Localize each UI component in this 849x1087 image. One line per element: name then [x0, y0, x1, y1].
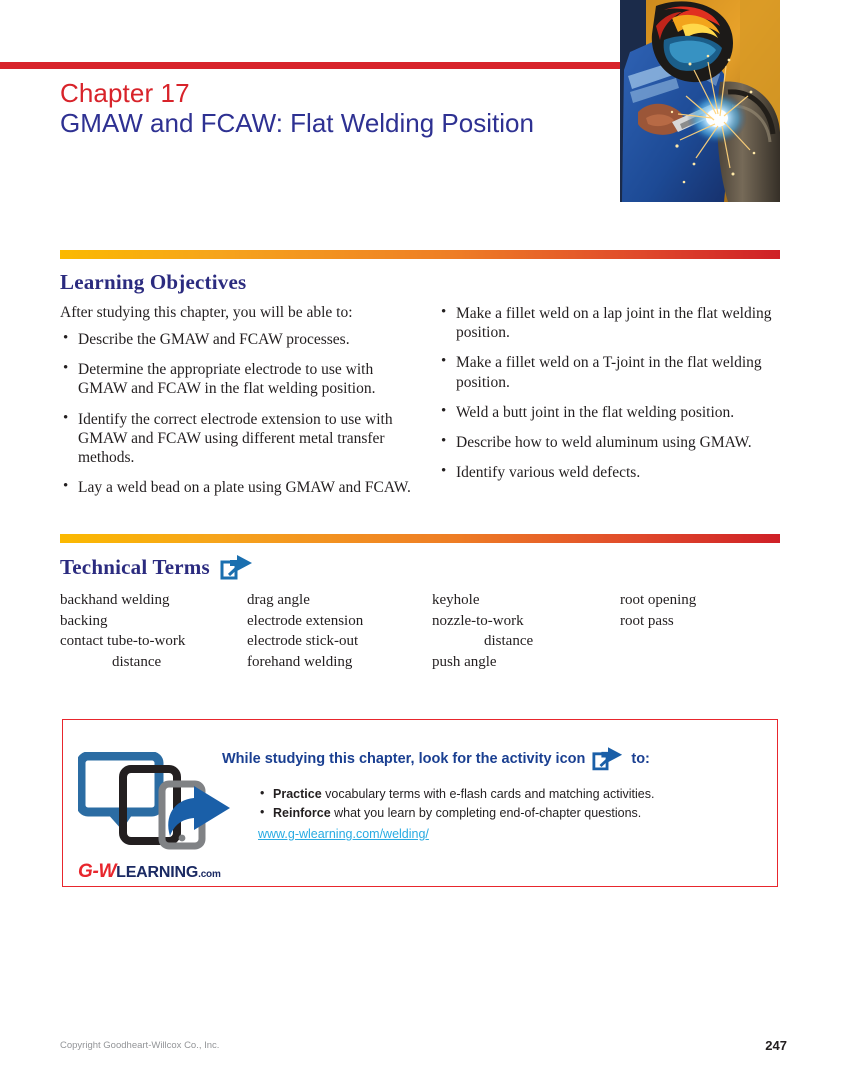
- page-number: 247: [765, 1038, 787, 1053]
- list-item: Make a fillet weld on a lap joint in the…: [438, 304, 783, 342]
- technical-terms-column: root opening root pass: [620, 590, 784, 673]
- technical-term: electrode stick-out: [247, 631, 432, 652]
- technical-term: backing: [60, 611, 247, 632]
- technical-term: drag angle: [247, 590, 432, 611]
- technical-terms-column: drag angle electrode extension electrode…: [247, 590, 432, 673]
- activity-url-link[interactable]: www.g-wlearning.com/welding/: [258, 825, 728, 844]
- activity-arrow-icon[interactable]: [592, 746, 624, 771]
- technical-term: forehand welding: [247, 652, 432, 673]
- list-item: Determine the appropriate electrode to u…: [60, 360, 412, 398]
- technical-terms-heading: Technical Terms: [60, 555, 210, 580]
- activity-headline: While studying this chapter, look for th…: [222, 746, 650, 771]
- activity-item-text: what you learn by completing end-of-chap…: [331, 806, 642, 820]
- objectives-gradient-rule: [60, 250, 780, 259]
- technical-terms-column: backhand welding backing contact tube-to…: [60, 590, 247, 673]
- technical-terms-column: keyhole nozzle-to-workdistance push angl…: [432, 590, 620, 673]
- activity-headline-before: While studying this chapter, look for th…: [222, 751, 585, 767]
- technical-term: keyhole: [432, 590, 620, 611]
- technical-term: electrode extension: [247, 611, 432, 632]
- technical-terms-grid: backhand welding backing contact tube-to…: [60, 590, 784, 673]
- list-item: Practice vocabulary terms with e-flash c…: [258, 785, 728, 804]
- header-red-rule: [0, 62, 620, 69]
- activity-item-label: Reinforce: [273, 806, 331, 820]
- activity-list: Practice vocabulary terms with e-flash c…: [258, 785, 728, 844]
- learning-objectives-right-column: Make a fillet weld on a lap joint in the…: [438, 304, 783, 494]
- learning-objectives-intro: After studying this chapter, you will be…: [60, 304, 353, 322]
- activity-headline-after: to:: [631, 751, 650, 767]
- activity-item-text: vocabulary terms with e-flash cards and …: [322, 787, 655, 801]
- list-item: Lay a weld bead on a plate using GMAW an…: [60, 478, 412, 497]
- learning-objectives-heading: Learning Objectives: [60, 270, 246, 295]
- gw-logo-text: G-W: [78, 861, 116, 882]
- chapter-number: Chapter 17: [60, 78, 560, 108]
- gw-learning-wordmark: G-WLEARNING.com: [78, 862, 221, 881]
- technical-term: push angle: [432, 652, 620, 673]
- activity-arrow-icon[interactable]: [220, 554, 254, 580]
- list-item: Weld a butt joint in the flat welding po…: [438, 403, 783, 422]
- technical-terms-gradient-rule: [60, 534, 780, 543]
- footer-copyright: Copyright Goodheart-Willcox Co., Inc.: [60, 1040, 219, 1051]
- gw-learning-text: LEARNING: [116, 864, 198, 881]
- list-item: Reinforce what you learn by completing e…: [258, 804, 728, 823]
- technical-terms-heading-row: Technical Terms: [60, 554, 254, 580]
- chapter-hero-photo: [620, 0, 780, 202]
- technical-term: contact tube-to-workdistance: [60, 631, 247, 672]
- activity-item-label: Practice: [273, 787, 322, 801]
- technical-term: backhand welding: [60, 590, 247, 611]
- learning-objectives-left-column: Describe the GMAW and FCAW processes. De…: [60, 330, 412, 509]
- list-item: Describe the GMAW and FCAW processes.: [60, 330, 412, 349]
- gw-dotcom-text: .com: [198, 869, 221, 880]
- technical-term: root pass: [620, 611, 784, 632]
- chapter-title: GMAW and FCAW: Flat Welding Position: [60, 108, 560, 138]
- technical-term: nozzle-to-workdistance: [432, 611, 620, 652]
- chapter-heading-block: Chapter 17 GMAW and FCAW: Flat Welding P…: [60, 78, 560, 139]
- list-item: Make a fillet weld on a T-joint in the f…: [438, 353, 783, 391]
- list-item: Describe how to weld aluminum using GMAW…: [438, 433, 783, 452]
- list-item: Identify various weld defects.: [438, 463, 783, 482]
- list-item: Identify the correct electrode extension…: [60, 410, 412, 468]
- technical-term: root opening: [620, 590, 784, 611]
